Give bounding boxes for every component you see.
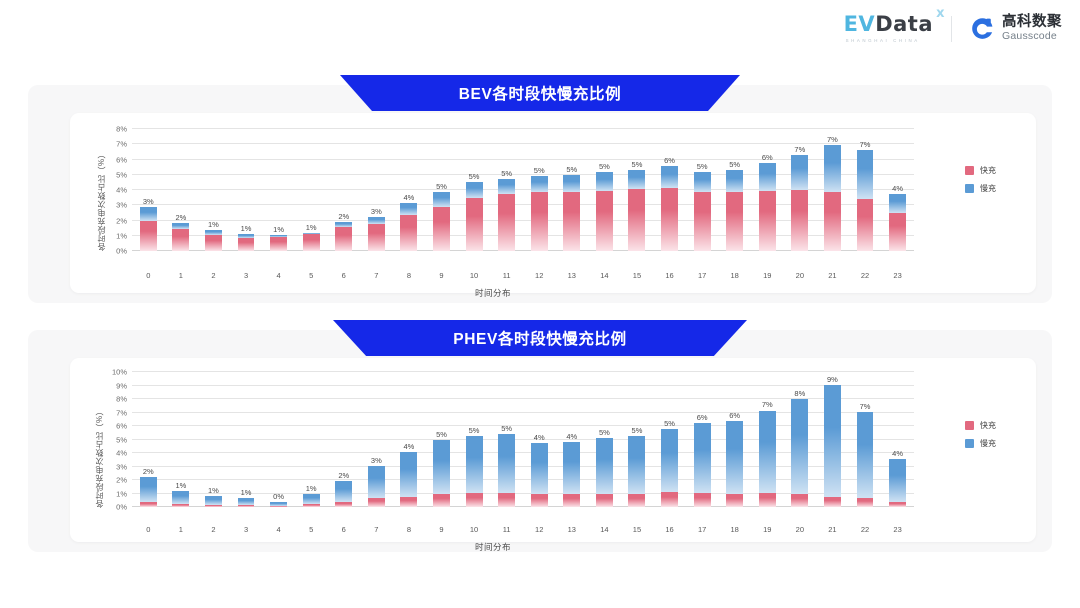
bar-group[interactable]: 7% bbox=[784, 129, 817, 251]
bar-group[interactable]: 1% bbox=[230, 372, 263, 507]
bar-value-label: 5% bbox=[599, 428, 610, 437]
bar-segment-slow bbox=[335, 481, 352, 501]
gausscode-logo: 高科数聚 Gausscode bbox=[970, 15, 1062, 41]
x-axis-tick: 13 bbox=[556, 525, 589, 534]
x-axis-tick: 6 bbox=[327, 271, 360, 280]
bar-segment-slow bbox=[628, 436, 645, 493]
bar-group[interactable]: 5% bbox=[425, 372, 458, 507]
bar-value-label: 5% bbox=[501, 424, 512, 433]
gausscode-name-cn: 高科数聚 bbox=[1002, 15, 1062, 30]
bar-segment-slow bbox=[400, 203, 417, 215]
y-axis-tick: 2% bbox=[116, 476, 127, 485]
bar-segment-fast bbox=[335, 227, 352, 251]
x-axis-tick: 21 bbox=[816, 271, 849, 280]
bar-value-label: 6% bbox=[664, 156, 675, 165]
phev-card: PHEV各时段快慢充比例 各时段充电次数占比（%） 0%1%2%3%4%5%6%… bbox=[28, 330, 1052, 552]
bar-segment-slow bbox=[889, 194, 906, 213]
bar-segment-slow bbox=[205, 496, 222, 505]
bar-segment-fast bbox=[628, 189, 645, 251]
y-axis-tick: 7% bbox=[116, 140, 127, 149]
bar-group[interactable]: 5% bbox=[621, 372, 654, 507]
x-axis-tick: 19 bbox=[751, 271, 784, 280]
x-axis-tick: 8 bbox=[393, 271, 426, 280]
bar-segment-slow bbox=[726, 170, 743, 191]
bar-segment-fast bbox=[596, 494, 613, 507]
bar-segment-slow bbox=[498, 434, 515, 493]
bar-segment-slow bbox=[857, 412, 874, 498]
x-axis-tick: 18 bbox=[718, 271, 751, 280]
x-axis-tick: 20 bbox=[784, 271, 817, 280]
bar-group[interactable]: 5% bbox=[425, 129, 458, 251]
x-axis-tick: 12 bbox=[523, 525, 556, 534]
y-axis-tick: 7% bbox=[116, 408, 127, 417]
y-axis-tick: 2% bbox=[116, 216, 127, 225]
bar-group[interactable]: 6% bbox=[718, 372, 751, 507]
bar-value-label: 7% bbox=[827, 135, 838, 144]
bar-value-label: 4% bbox=[534, 433, 545, 442]
bar-value-label: 1% bbox=[273, 225, 284, 234]
bar-segment-slow bbox=[140, 477, 157, 502]
bar-segment-fast bbox=[857, 498, 874, 507]
bar-segment-fast bbox=[303, 504, 320, 507]
bar-value-label: 2% bbox=[338, 212, 349, 221]
bar-group[interactable]: 6% bbox=[686, 372, 719, 507]
bar-value-label: 4% bbox=[403, 193, 414, 202]
bar-segment-fast bbox=[596, 191, 613, 251]
bar-value-label: 6% bbox=[697, 413, 708, 422]
bar-value-label: 5% bbox=[534, 166, 545, 175]
legend-item-slow[interactable]: 慢充 bbox=[965, 183, 996, 194]
legend-label-slow: 慢充 bbox=[980, 438, 996, 449]
bar-segment-fast bbox=[368, 498, 385, 507]
bar-group[interactable]: 6% bbox=[751, 129, 784, 251]
bar-segment-fast bbox=[791, 494, 808, 508]
x-axis-tick: 11 bbox=[490, 525, 523, 534]
bar-value-label: 4% bbox=[892, 184, 903, 193]
bar-segment-fast bbox=[563, 192, 580, 251]
bar-segment-slow bbox=[661, 166, 678, 188]
bar-group[interactable]: 9% bbox=[816, 372, 849, 507]
bar-value-label: 9% bbox=[827, 375, 838, 384]
bar-segment-fast bbox=[205, 235, 222, 251]
bar-segment-fast bbox=[661, 492, 678, 507]
y-axis-tick: 3% bbox=[116, 462, 127, 471]
bar-group[interactable]: 1% bbox=[295, 129, 328, 251]
bar-segment-slow bbox=[628, 170, 645, 189]
bar-group[interactable]: 2% bbox=[132, 372, 165, 507]
phev-legend: 快充 慢充 bbox=[965, 420, 996, 449]
evdata-wordmark: EVData x bbox=[844, 14, 933, 35]
bar-segment-slow bbox=[824, 385, 841, 497]
bar-group[interactable]: 5% bbox=[458, 129, 491, 251]
phev-bars: 2%1%1%1%0%1%2%3%4%5%5%5%4%4%5%5%5%6%6%7%… bbox=[132, 372, 914, 507]
x-axis-tick: 19 bbox=[751, 525, 784, 534]
bar-value-label: 2% bbox=[338, 471, 349, 480]
y-axis-tick: 4% bbox=[116, 449, 127, 458]
bar-group[interactable]: 5% bbox=[621, 129, 654, 251]
bar-group[interactable]: 3% bbox=[132, 129, 165, 251]
bar-segment-fast bbox=[889, 213, 906, 251]
bar-value-label: 7% bbox=[794, 145, 805, 154]
bar-segment-fast bbox=[498, 194, 515, 251]
bar-value-label: 1% bbox=[306, 223, 317, 232]
x-axis-tick: 23 bbox=[881, 525, 914, 534]
bar-group[interactable]: 7% bbox=[849, 129, 882, 251]
bar-segment-slow bbox=[791, 399, 808, 494]
gausscode-name-en: Gausscode bbox=[1002, 31, 1062, 42]
legend-swatch-slow bbox=[965, 184, 974, 193]
bar-group[interactable]: 5% bbox=[490, 129, 523, 251]
evdata-prefix: EV bbox=[844, 12, 876, 36]
bar-group[interactable]: 6% bbox=[653, 129, 686, 251]
bar-segment-slow bbox=[238, 498, 255, 505]
bar-segment-slow bbox=[563, 175, 580, 193]
bar-segment-fast bbox=[759, 191, 776, 251]
bar-segment-fast bbox=[433, 494, 450, 508]
bar-segment-fast bbox=[400, 215, 417, 251]
bar-group[interactable]: 1% bbox=[165, 372, 198, 507]
bar-value-label: 5% bbox=[436, 182, 447, 191]
bar-segment-slow bbox=[466, 182, 483, 198]
bev-card: BEV各时段快慢充比例 各时段充电次数占比（%） 0%1%2%3%4%5%6%7… bbox=[28, 85, 1052, 303]
bar-value-label: 5% bbox=[469, 172, 480, 181]
x-axis-tick: 15 bbox=[621, 271, 654, 280]
bar-group[interactable]: 3% bbox=[360, 129, 393, 251]
bar-segment-fast bbox=[857, 199, 874, 251]
bar-segment-slow bbox=[694, 423, 711, 493]
gausscode-mark-icon bbox=[970, 16, 995, 41]
y-axis-tick: 1% bbox=[116, 231, 127, 240]
bev-title-ribbon: BEV各时段快慢充比例 bbox=[340, 75, 740, 111]
evdata-x-icon: x bbox=[936, 7, 945, 20]
bar-value-label: 5% bbox=[501, 169, 512, 178]
x-axis-tick: 9 bbox=[425, 525, 458, 534]
bar-segment-slow bbox=[368, 217, 385, 225]
phev-y-axis-label: 各时段充电次数占比（%） bbox=[94, 374, 105, 508]
x-axis-tick: 21 bbox=[816, 525, 849, 534]
bar-segment-slow bbox=[759, 163, 776, 191]
phev-x-axis-ticks: 01234567891011121314151617181920212223 bbox=[132, 525, 914, 534]
bar-value-label: 1% bbox=[175, 481, 186, 490]
y-axis-tick: 5% bbox=[116, 435, 127, 444]
x-axis-tick: 22 bbox=[849, 525, 882, 534]
bar-group[interactable]: 5% bbox=[458, 372, 491, 507]
legend-label-fast: 快充 bbox=[980, 420, 996, 431]
bar-value-label: 7% bbox=[860, 402, 871, 411]
bar-value-label: 6% bbox=[762, 153, 773, 162]
legend-label-slow: 慢充 bbox=[980, 183, 996, 194]
x-axis-tick: 13 bbox=[556, 271, 589, 280]
bar-segment-slow bbox=[400, 452, 417, 497]
x-axis-tick: 8 bbox=[393, 525, 426, 534]
x-axis-tick: 18 bbox=[718, 525, 751, 534]
legend-item-fast[interactable]: 快充 bbox=[965, 165, 996, 176]
bar-segment-slow bbox=[368, 466, 385, 498]
bar-value-label: 7% bbox=[762, 400, 773, 409]
x-axis-tick: 2 bbox=[197, 525, 230, 534]
x-axis-tick: 20 bbox=[784, 525, 817, 534]
bar-value-label: 5% bbox=[469, 426, 480, 435]
bar-value-label: 1% bbox=[208, 220, 219, 229]
bar-segment-fast bbox=[238, 238, 255, 251]
bar-segment-fast bbox=[824, 192, 841, 251]
x-axis-tick: 9 bbox=[425, 271, 458, 280]
y-axis-tick: 8% bbox=[116, 125, 127, 134]
bev-y-axis-label: 各时段充电次数占比（%） bbox=[96, 131, 107, 251]
bar-segment-fast bbox=[172, 504, 189, 507]
bar-group[interactable]: 5% bbox=[588, 129, 621, 251]
bar-segment-fast bbox=[694, 192, 711, 251]
bar-segment-fast bbox=[335, 502, 352, 507]
bar-segment-slow bbox=[759, 411, 776, 493]
bar-group[interactable]: 5% bbox=[653, 372, 686, 507]
x-axis-tick: 3 bbox=[230, 525, 263, 534]
page-header: EVData x SHANGHAI CHINA 高科数聚 Gausscode bbox=[0, 0, 1080, 62]
bar-segment-fast bbox=[140, 221, 157, 251]
bar-value-label: 2% bbox=[143, 467, 154, 476]
bar-group[interactable]: 5% bbox=[588, 372, 621, 507]
gausscode-text: 高科数聚 Gausscode bbox=[1002, 15, 1062, 41]
bar-value-label: 8% bbox=[794, 389, 805, 398]
bar-segment-fast bbox=[661, 188, 678, 251]
logo-divider bbox=[951, 16, 952, 42]
x-axis-tick: 17 bbox=[686, 525, 719, 534]
bar-segment-fast bbox=[238, 505, 255, 507]
x-axis-tick: 5 bbox=[295, 271, 328, 280]
x-axis-tick: 10 bbox=[458, 271, 491, 280]
x-axis-tick: 4 bbox=[262, 271, 295, 280]
y-axis-tick: 9% bbox=[116, 381, 127, 390]
bar-segment-fast bbox=[531, 494, 548, 508]
phev-title-ribbon: PHEV各时段快慢充比例 bbox=[333, 320, 747, 356]
bev-x-axis-ticks: 01234567891011121314151617181920212223 bbox=[132, 271, 914, 280]
x-axis-tick: 2 bbox=[197, 271, 230, 280]
bar-value-label: 4% bbox=[403, 442, 414, 451]
x-axis-tick: 17 bbox=[686, 271, 719, 280]
x-axis-tick: 3 bbox=[230, 271, 263, 280]
bar-segment-fast bbox=[889, 502, 906, 507]
bar-segment-slow bbox=[596, 438, 613, 493]
bar-group[interactable]: 5% bbox=[718, 129, 751, 251]
y-axis-tick: 0% bbox=[116, 503, 127, 512]
bar-value-label: 2% bbox=[175, 213, 186, 222]
y-axis-tick: 0% bbox=[116, 247, 127, 256]
bar-value-label: 5% bbox=[664, 419, 675, 428]
phev-chart: 各时段充电次数占比（%） 0%1%2%3%4%5%6%7%8%9%10% 2%1… bbox=[70, 358, 1036, 542]
bar-segment-fast bbox=[694, 493, 711, 507]
bar-segment-slow bbox=[824, 145, 841, 192]
bar-segment-slow bbox=[694, 172, 711, 192]
legend-item-slow[interactable]: 慢充 bbox=[965, 438, 996, 449]
bev-x-axis-label: 时间分布 bbox=[102, 287, 884, 299]
bar-value-label: 3% bbox=[143, 197, 154, 206]
bar-segment-fast bbox=[563, 494, 580, 507]
bar-segment-slow bbox=[661, 429, 678, 492]
bar-group[interactable]: 5% bbox=[556, 129, 589, 251]
x-axis-tick: 14 bbox=[588, 271, 621, 280]
bar-value-label: 1% bbox=[241, 224, 252, 233]
bar-segment-fast bbox=[726, 494, 743, 507]
bar-segment-fast bbox=[498, 493, 515, 507]
bar-group[interactable]: 0% bbox=[262, 372, 295, 507]
bar-segment-fast bbox=[368, 224, 385, 251]
x-axis-tick: 6 bbox=[327, 525, 360, 534]
bar-segment-slow bbox=[433, 192, 450, 207]
y-axis-tick: 5% bbox=[116, 170, 127, 179]
x-axis-tick: 22 bbox=[849, 271, 882, 280]
bar-value-label: 5% bbox=[632, 160, 643, 169]
bar-segment-fast bbox=[140, 502, 157, 507]
y-axis-tick: 3% bbox=[116, 201, 127, 210]
bar-group[interactable]: 2% bbox=[165, 129, 198, 251]
evdata-main-text: Data bbox=[875, 12, 933, 36]
bar-segment-fast bbox=[466, 198, 483, 251]
bar-group[interactable]: 2% bbox=[327, 129, 360, 251]
bar-group[interactable]: 7% bbox=[751, 372, 784, 507]
bar-group[interactable]: 5% bbox=[523, 129, 556, 251]
x-axis-tick: 14 bbox=[588, 525, 621, 534]
bar-segment-fast bbox=[400, 497, 417, 507]
bev-title: BEV各时段快慢充比例 bbox=[459, 82, 621, 104]
bev-chart-panel: 各时段充电次数占比（%） 0%1%2%3%4%5%6%7%8% 3%2%1%1%… bbox=[70, 113, 1036, 293]
x-axis-tick: 23 bbox=[881, 271, 914, 280]
logo-group: EVData x SHANGHAI CHINA 高科数聚 Gausscode bbox=[844, 14, 1062, 43]
y-axis-tick: 4% bbox=[116, 186, 127, 195]
bar-segment-fast bbox=[205, 505, 222, 507]
bar-segment-slow bbox=[140, 207, 157, 221]
bar-group[interactable]: 2% bbox=[327, 372, 360, 507]
bar-group[interactable]: 4% bbox=[393, 372, 426, 507]
x-axis-tick: 1 bbox=[165, 525, 198, 534]
bar-value-label: 1% bbox=[241, 488, 252, 497]
bar-group[interactable]: 4% bbox=[881, 129, 914, 251]
bar-segment-fast bbox=[172, 229, 189, 251]
bar-value-label: 5% bbox=[566, 165, 577, 174]
bar-segment-fast bbox=[466, 493, 483, 507]
x-axis-tick: 7 bbox=[360, 525, 393, 534]
bar-group[interactable]: 1% bbox=[295, 372, 328, 507]
bar-segment-slow bbox=[791, 155, 808, 190]
legend-swatch-fast bbox=[965, 166, 974, 175]
bar-value-label: 1% bbox=[208, 486, 219, 495]
bev-bars: 3%2%1%1%1%1%2%3%4%5%5%5%5%5%5%5%6%5%5%6%… bbox=[132, 129, 914, 251]
bar-segment-slow bbox=[596, 172, 613, 191]
bar-group[interactable]: 4% bbox=[523, 372, 556, 507]
bar-value-label: 5% bbox=[632, 426, 643, 435]
bar-group[interactable]: 7% bbox=[849, 372, 882, 507]
evdata-tagline: SHANGHAI CHINA bbox=[846, 38, 920, 43]
phev-x-axis-label: 时间分布 bbox=[102, 541, 884, 553]
x-axis-tick: 11 bbox=[490, 271, 523, 280]
bar-value-label: 4% bbox=[892, 449, 903, 458]
bev-legend: 快充 慢充 bbox=[965, 165, 996, 194]
bar-segment-slow bbox=[303, 494, 320, 504]
y-axis-tick: 10% bbox=[112, 368, 127, 377]
y-axis-tick: 1% bbox=[116, 489, 127, 498]
x-axis-tick: 5 bbox=[295, 525, 328, 534]
bar-segment-fast bbox=[531, 192, 548, 251]
bar-segment-fast bbox=[759, 493, 776, 507]
bar-group[interactable]: 1% bbox=[262, 129, 295, 251]
bar-value-label: 5% bbox=[599, 162, 610, 171]
y-axis-tick: 8% bbox=[116, 395, 127, 404]
bar-value-label: 7% bbox=[860, 140, 871, 149]
bar-group[interactable]: 3% bbox=[360, 372, 393, 507]
evdata-logo: EVData x SHANGHAI CHINA bbox=[844, 14, 933, 43]
bar-segment-fast bbox=[628, 494, 645, 508]
bar-segment-slow bbox=[857, 150, 874, 199]
bar-group[interactable]: 4% bbox=[881, 372, 914, 507]
bar-segment-fast bbox=[270, 237, 287, 251]
bar-group[interactable]: 5% bbox=[490, 372, 523, 507]
bar-group[interactable]: 1% bbox=[197, 129, 230, 251]
bar-group[interactable]: 4% bbox=[556, 372, 589, 507]
bar-segment-fast bbox=[726, 192, 743, 251]
bar-group[interactable]: 1% bbox=[230, 129, 263, 251]
x-axis-tick: 4 bbox=[262, 525, 295, 534]
bar-value-label: 4% bbox=[566, 432, 577, 441]
x-axis-tick: 16 bbox=[653, 271, 686, 280]
bev-chart: 各时段充电次数占比（%） 0%1%2%3%4%5%6%7%8% 3%2%1%1%… bbox=[70, 113, 1036, 293]
bar-segment-slow bbox=[531, 443, 548, 494]
y-axis-tick: 6% bbox=[116, 155, 127, 164]
bar-value-label: 3% bbox=[371, 207, 382, 216]
bar-value-label: 3% bbox=[371, 456, 382, 465]
bar-segment-fast bbox=[303, 234, 320, 251]
x-axis-tick: 1 bbox=[165, 271, 198, 280]
bar-segment-fast bbox=[270, 506, 287, 507]
x-axis-tick: 16 bbox=[653, 525, 686, 534]
legend-swatch-fast bbox=[965, 421, 974, 430]
x-axis-tick: 12 bbox=[523, 271, 556, 280]
legend-label-fast: 快充 bbox=[980, 165, 996, 176]
x-axis-tick: 7 bbox=[360, 271, 393, 280]
bar-segment-fast bbox=[824, 497, 841, 507]
bar-segment-slow bbox=[466, 436, 483, 493]
bar-group[interactable]: 4% bbox=[393, 129, 426, 251]
bar-value-label: 5% bbox=[729, 160, 740, 169]
bar-group[interactable]: 7% bbox=[816, 129, 849, 251]
legend-swatch-slow bbox=[965, 439, 974, 448]
bar-segment-slow bbox=[498, 179, 515, 194]
x-axis-tick: 10 bbox=[458, 525, 491, 534]
bar-segment-slow bbox=[172, 491, 189, 504]
legend-item-fast[interactable]: 快充 bbox=[965, 420, 996, 431]
phev-plot-area: 0%1%2%3%4%5%6%7%8%9%10% 2%1%1%1%0%1%2%3%… bbox=[132, 372, 914, 507]
bar-value-label: 0% bbox=[273, 492, 284, 501]
x-axis-tick: 15 bbox=[621, 525, 654, 534]
bar-segment-slow bbox=[889, 459, 906, 502]
y-axis-tick: 6% bbox=[116, 422, 127, 431]
phev-chart-panel: 各时段充电次数占比（%） 0%1%2%3%4%5%6%7%8%9%10% 2%1… bbox=[70, 358, 1036, 542]
bar-value-label: 1% bbox=[306, 484, 317, 493]
x-axis-tick: 0 bbox=[132, 271, 165, 280]
phev-title: PHEV各时段快慢充比例 bbox=[453, 327, 626, 349]
bar-segment-slow bbox=[563, 442, 580, 493]
bar-group[interactable]: 5% bbox=[686, 129, 719, 251]
bar-segment-slow bbox=[726, 421, 743, 493]
x-axis-tick: 0 bbox=[132, 525, 165, 534]
bar-value-label: 6% bbox=[729, 411, 740, 420]
bar-group[interactable]: 8% bbox=[784, 372, 817, 507]
bar-group[interactable]: 1% bbox=[197, 372, 230, 507]
bar-value-label: 5% bbox=[697, 162, 708, 171]
bar-segment-slow bbox=[531, 176, 548, 193]
bar-segment-fast bbox=[433, 207, 450, 251]
bar-segment-fast bbox=[791, 190, 808, 251]
bar-value-label: 5% bbox=[436, 430, 447, 439]
bev-plot-area: 0%1%2%3%4%5%6%7%8% 3%2%1%1%1%1%2%3%4%5%5… bbox=[132, 129, 914, 251]
